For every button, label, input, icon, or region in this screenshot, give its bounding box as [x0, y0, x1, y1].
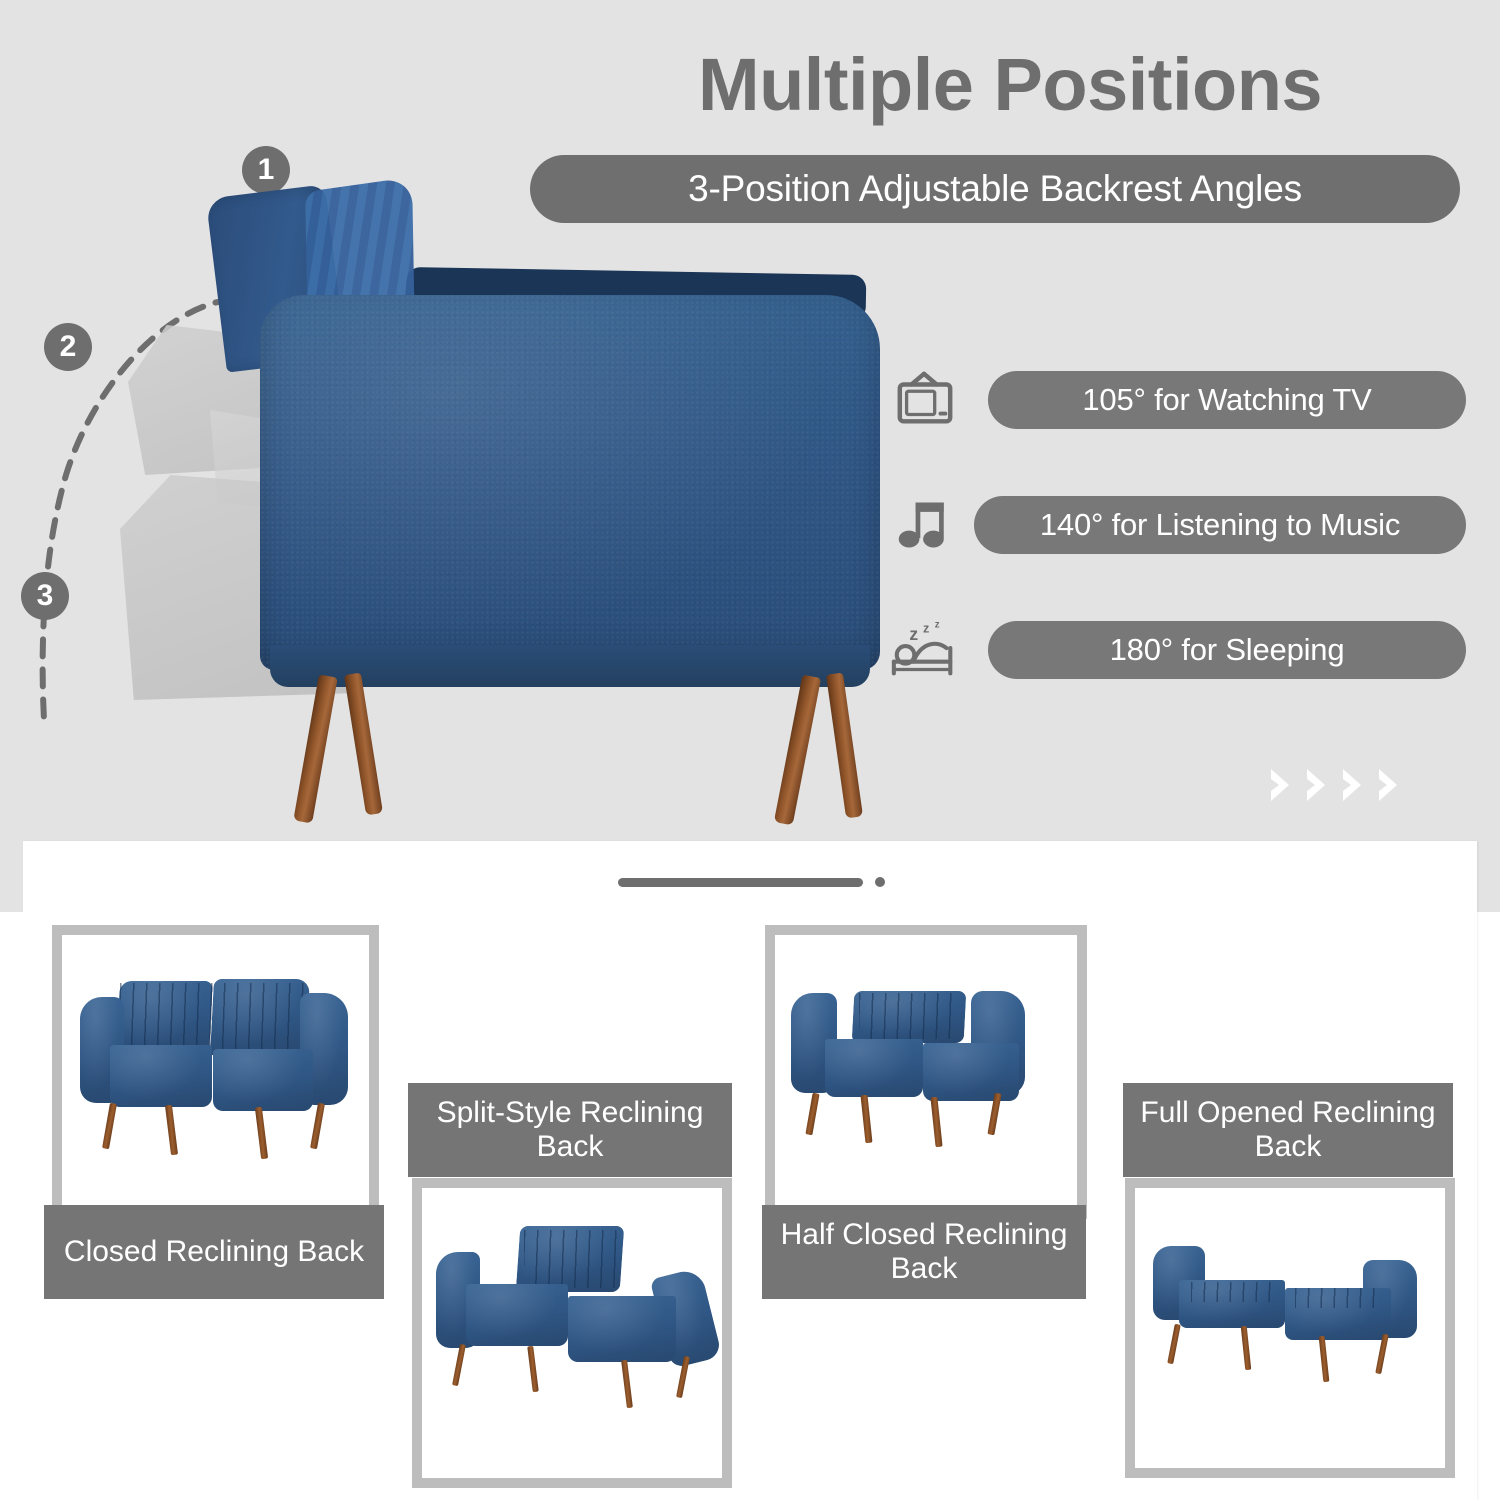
mini-leg: [102, 1103, 117, 1150]
mini-backrest-ribs: [524, 1230, 618, 1288]
card-frame: [52, 925, 379, 1219]
feature-row-tv: 105° for Watching TV: [886, 360, 1466, 440]
feature-label-sleeping: 180° for Sleeping: [1110, 632, 1345, 668]
chevron-right-icon: [1337, 765, 1367, 805]
hero-section: Multiple Positions 3-Position Adjustable…: [0, 0, 1500, 912]
sleeping-bed-icon: z z z: [886, 610, 964, 690]
feature-label-tv: 105° for Watching TV: [1082, 382, 1371, 418]
sofa-leg: [774, 675, 821, 826]
mini-bed-ribs-right: [1295, 1288, 1383, 1308]
feature-row-sleeping: z z z 180° for Sleeping: [886, 610, 1466, 690]
mini-backrest-ribs: [120, 983, 306, 1049]
tv-icon: [886, 360, 964, 440]
feature-pill-tv: 105° for Watching TV: [988, 371, 1466, 429]
mini-leg: [165, 1105, 178, 1155]
chevron-right-icon: [1265, 765, 1295, 805]
mini-leg: [527, 1346, 539, 1392]
carousel-indicator[interactable]: [618, 877, 885, 887]
feature-row-music: 140° for Listening to Music: [886, 485, 1466, 565]
mini-leg: [1319, 1336, 1330, 1382]
carousel-dot[interactable]: [875, 877, 885, 887]
card-photo-split-style-reclining-back: [422, 1188, 722, 1478]
card-caption-full-opened: Full Opened Reclining Back: [1123, 1083, 1453, 1177]
mini-seat-left: [110, 1045, 212, 1107]
position-marker-3: 3: [21, 572, 69, 620]
card-frame: [412, 1178, 732, 1488]
carousel-active-bar[interactable]: [618, 878, 863, 887]
card-caption-split-style: Split-Style Reclining Back: [408, 1083, 732, 1177]
sofa-arm-body: [260, 295, 880, 670]
mini-seat-left: [825, 1039, 923, 1097]
svg-text:z: z: [909, 624, 918, 644]
mini-leg: [1241, 1326, 1252, 1370]
card-caption-half-closed: Half Closed Reclining Back: [762, 1205, 1086, 1299]
chevron-right-icon: [1373, 765, 1403, 805]
sofa-leg: [826, 673, 863, 819]
card-photo-closed-reclining-back: [62, 935, 369, 1209]
mini-backrest-ribs: [859, 993, 959, 1039]
mini-seat-right: [923, 1043, 1019, 1101]
mini-leg: [861, 1095, 873, 1143]
mini-leg: [1167, 1324, 1181, 1364]
mini-leg: [255, 1107, 268, 1159]
music-note-icon: [886, 485, 964, 565]
sofa-leg: [293, 674, 337, 823]
card-photo-full-opened-reclining-back: [1135, 1188, 1445, 1468]
mini-seat-right: [568, 1296, 676, 1362]
mini-leg: [310, 1103, 325, 1150]
card-photo-half-closed-reclining-back: [775, 935, 1077, 1209]
card-frame: [765, 925, 1087, 1219]
card-caption-closed: Closed Reclining Back: [44, 1205, 384, 1299]
chevron-right-icon: [1301, 765, 1331, 805]
page-title: Multiple Positions: [560, 48, 1460, 122]
position-marker-2: 2: [44, 323, 92, 371]
svg-text:z: z: [935, 620, 940, 631]
feature-list: 105° for Watching TV 140° for Listening …: [886, 360, 1466, 735]
mini-leg: [452, 1344, 466, 1386]
mini-seat-right: [213, 1049, 313, 1111]
mini-leg: [930, 1097, 942, 1147]
mini-leg: [621, 1360, 633, 1408]
feature-pill-music: 140° for Listening to Music: [974, 496, 1466, 554]
card-frame: [1125, 1178, 1455, 1478]
feature-pill-sleeping: 180° for Sleeping: [988, 621, 1466, 679]
svg-text:z: z: [923, 621, 929, 635]
mini-leg: [805, 1093, 819, 1136]
mini-seat-left: [466, 1284, 568, 1346]
mini-bed-ribs-left: [1191, 1282, 1279, 1302]
sofa-side-view-image: [110, 175, 900, 815]
feature-label-music: 140° for Listening to Music: [1040, 507, 1400, 543]
sofa-leg: [344, 673, 383, 816]
chevron-arrows-group: [1265, 765, 1403, 805]
